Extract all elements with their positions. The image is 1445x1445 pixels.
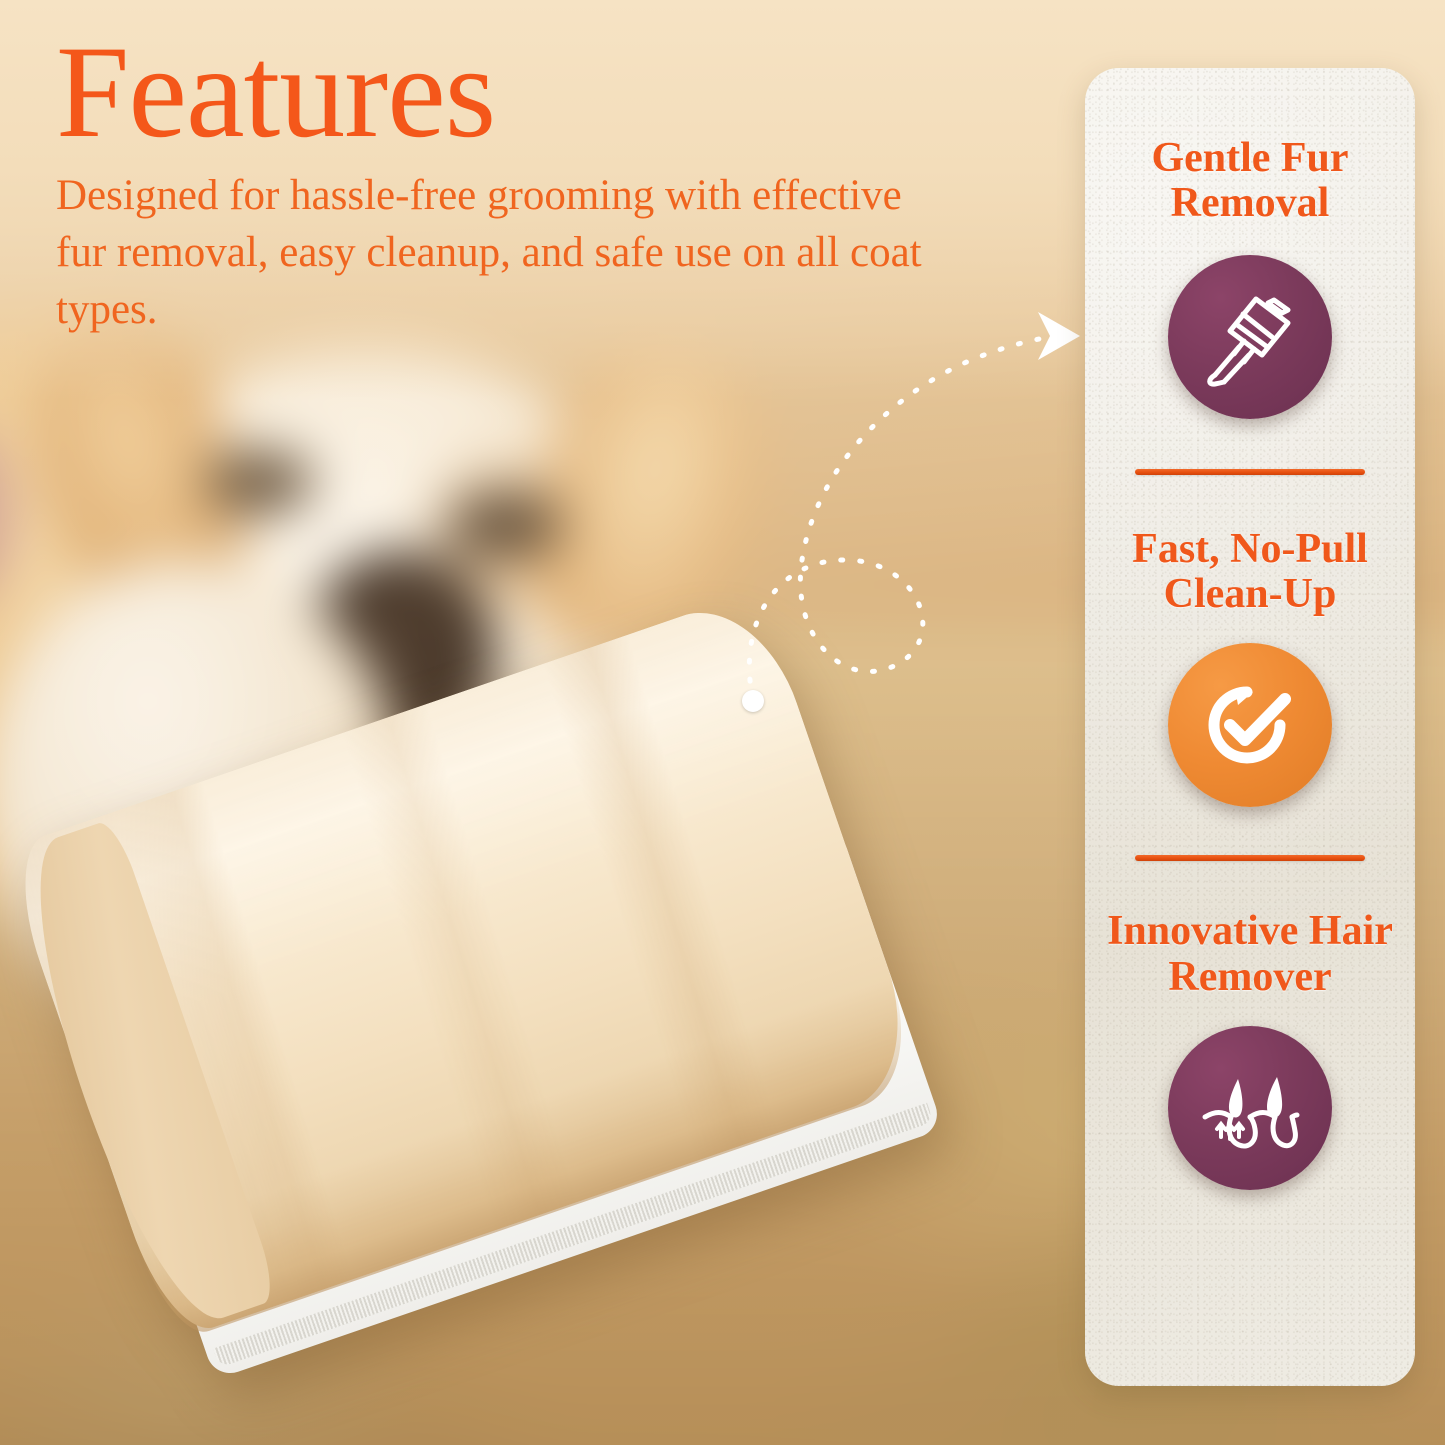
lint-roller-icon bbox=[1198, 285, 1302, 389]
feature-title: Innovative Hair Remover bbox=[1100, 909, 1400, 1000]
feature-badge bbox=[1168, 1026, 1332, 1190]
feature-badge bbox=[1168, 643, 1332, 807]
feature-title: Gentle Fur Removal bbox=[1100, 136, 1400, 227]
hair-follicle-icon bbox=[1197, 1055, 1303, 1161]
feature-item-gentle-fur-removal[interactable]: Gentle Fur Removal bbox=[1085, 136, 1415, 419]
feature-title: Fast, No-Pull Clean-Up bbox=[1100, 527, 1400, 618]
feature-badge bbox=[1168, 255, 1332, 419]
feature-divider bbox=[1135, 469, 1365, 475]
feature-item-fast-no-pull-clean-up[interactable]: Fast, No-Pull Clean-Up bbox=[1085, 527, 1415, 808]
feature-divider bbox=[1135, 855, 1365, 861]
feature-panel: Gentle Fur Removal bbox=[1085, 68, 1415, 1386]
connector-arrow bbox=[640, 240, 1120, 760]
feature-list: Gentle Fur Removal bbox=[1085, 68, 1415, 1386]
connector-dotted-path bbox=[749, 336, 1058, 700]
infographic-canvas: Features Designed for hassle-free groomi… bbox=[0, 0, 1445, 1445]
refresh-check-icon bbox=[1197, 672, 1303, 778]
feature-item-innovative-hair-remover[interactable]: Innovative Hair Remover bbox=[1085, 909, 1415, 1190]
connector-arrowhead bbox=[1038, 312, 1080, 360]
page-title: Features bbox=[56, 26, 1016, 158]
